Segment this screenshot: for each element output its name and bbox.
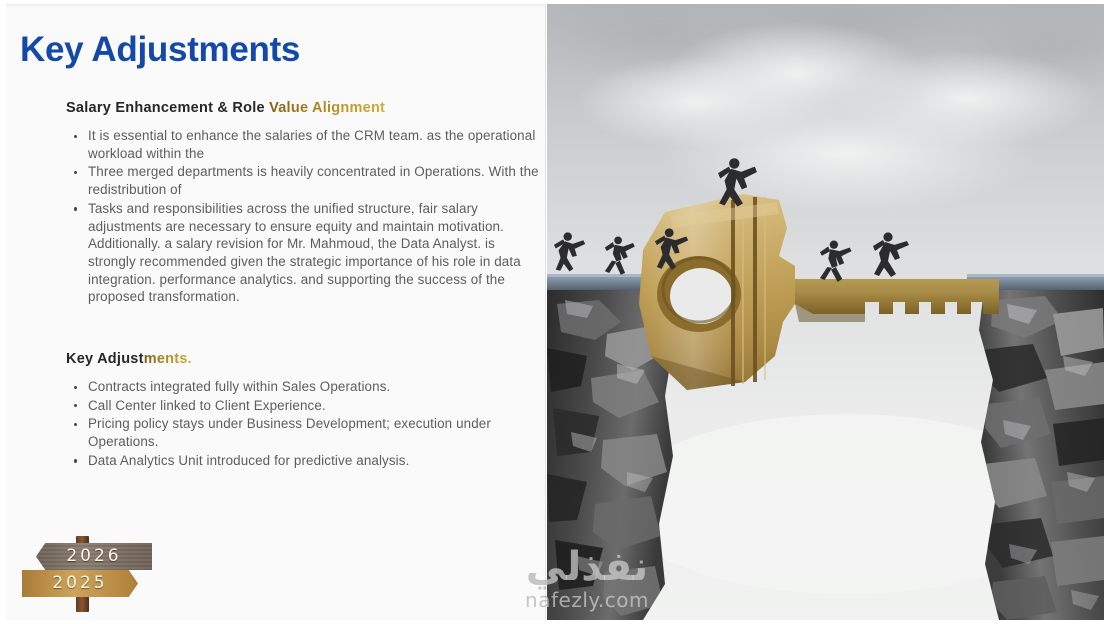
slide-root: Key Adjustments Salary Enhancement & Rol… (0, 0, 1104, 624)
list-item: Three merged departments is heavily conc… (66, 163, 546, 198)
section-key-adjustments: Key Adjustments. Contracts integrated fu… (66, 351, 546, 471)
list-item: Call Center linked to Client Experience. (66, 397, 546, 415)
right-cliff (967, 274, 1104, 620)
key-bridge-illustration (547, 4, 1104, 620)
panel-top-edge (6, 4, 546, 8)
section-heading-gold-part: ments. (144, 351, 192, 367)
section-heading: Salary Enhancement & Role Value Alignmen… (66, 100, 546, 116)
list-item: It is essential to enhance the salaries … (66, 127, 546, 162)
list-item: Contracts integrated fully within Sales … (66, 378, 546, 396)
signpost-graphic: 2026 2025 (14, 526, 174, 612)
list-item: Pricing policy stays under Business Deve… (66, 415, 546, 450)
content-panel: Key Adjustments Salary Enhancement & Rol… (6, 4, 546, 620)
section-heading: Key Adjustments. (66, 351, 546, 367)
list-item: Tasks and responsibilities across the un… (66, 200, 546, 306)
list-item: Data Analytics Unit introduced for predi… (66, 452, 546, 470)
section-salary-enhancement: Salary Enhancement & Role Value Alignmen… (66, 100, 546, 307)
key-bridge-photo (547, 4, 1104, 620)
signpost-sign-2025: 2025 (22, 570, 138, 597)
signpost-sign-2026: 2026 (36, 543, 152, 570)
bullet-list: It is essential to enhance the salaries … (66, 127, 546, 306)
section-heading-gold-part: Value Alignment (269, 100, 385, 116)
page-title: Key Adjustments (20, 30, 300, 70)
section-heading-dark-part: Salary Enhancement & Role (66, 100, 269, 116)
bullet-list: Contracts integrated fully within Sales … (66, 378, 546, 470)
section-heading-dark-part: Key Adjust (66, 351, 144, 367)
